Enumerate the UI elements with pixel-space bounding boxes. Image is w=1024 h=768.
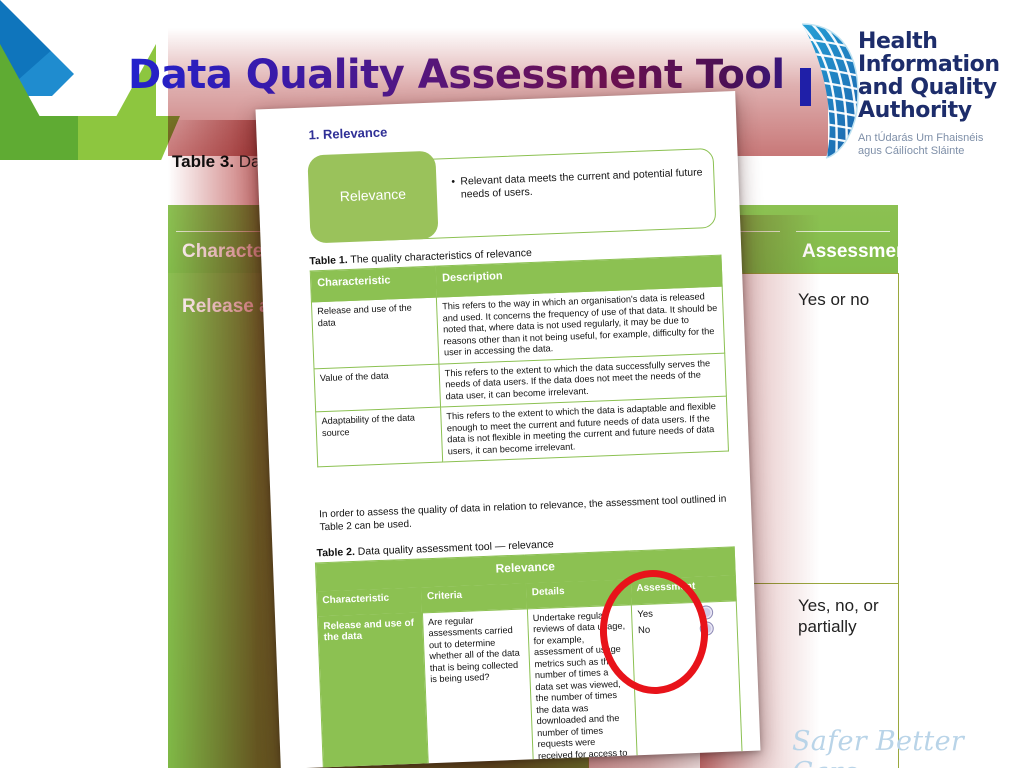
hiqa-logo-line4: Authority (858, 99, 1018, 122)
table2-cell-criteria: Are regular assessments carried out to d… (422, 608, 533, 768)
hiqa-logo-text: Health Information and Quality Authority (858, 30, 1018, 122)
table1-cell-characteristic-0: Release and use of the data (311, 297, 438, 368)
safer-better-care-tagline: Safer Better Care (792, 726, 1024, 768)
table2-cell-characteristic: Release and use of the data (318, 612, 429, 768)
hiqa-logo-irish-line2: agus Cáilíocht Sláinte (858, 145, 1018, 158)
background-col-header-assessment: Assessment (788, 205, 898, 273)
document-section-title: 1. Relevance (308, 124, 387, 142)
page-title: Data Quality Assessment Tool (128, 52, 828, 102)
presentation-slide: Table 3. Data q Characteristic Assessmen… (0, 0, 1024, 768)
table1-cell-description-0: This refers to the way in which an organ… (436, 286, 724, 363)
background-assessment-value-1: Yes, no, or partially (798, 595, 898, 637)
background-col-header-assessment-label: Assessment (802, 241, 914, 263)
table1-cell-characteristic-1: Value of the data (314, 364, 441, 412)
table1-header-characteristic: Characteristic (310, 266, 436, 302)
relevance-callout-pill-label: Relevance (309, 185, 438, 206)
table2-caption-label: Table 2. (316, 546, 355, 559)
relevance-callout-pill: Relevance (307, 151, 438, 244)
background-assessment-value-0: Yes or no (798, 289, 898, 310)
table1: Characteristic Description Release and u… (310, 255, 729, 468)
hiqa-logo: Health Information and Quality Authority… (800, 16, 1016, 176)
relevance-callout: Relevance Relevant data meets the curren… (307, 140, 718, 244)
hiqa-logo-line2: Information (858, 53, 1018, 76)
table1-caption-label: Table 1. (309, 254, 348, 267)
table1-wrapper: Characteristic Description Release and u… (310, 255, 729, 468)
document-paragraph: In order to assess the quality of data i… (319, 494, 732, 535)
hiqa-logo-irish: An tÚdarás Um Fhaisnéis agus Cáilíocht S… (858, 132, 1018, 158)
table1-cell-description-2: This refers to the extent to which the d… (441, 396, 729, 462)
hiqa-logo-line1: Health (858, 30, 1018, 53)
background-assessment-column: Yes or no Yes, no, or partially (788, 273, 899, 768)
hiqa-logo-line3: and Quality (858, 76, 1018, 99)
background-white-area (0, 160, 172, 768)
table1-cell-characteristic-2: Adaptability of the data source (316, 407, 443, 467)
background-table-caption-label: Table 3. (172, 152, 234, 171)
hiqa-logo-irish-line1: An tÚdarás Um Fhaisnéis (858, 132, 1018, 145)
